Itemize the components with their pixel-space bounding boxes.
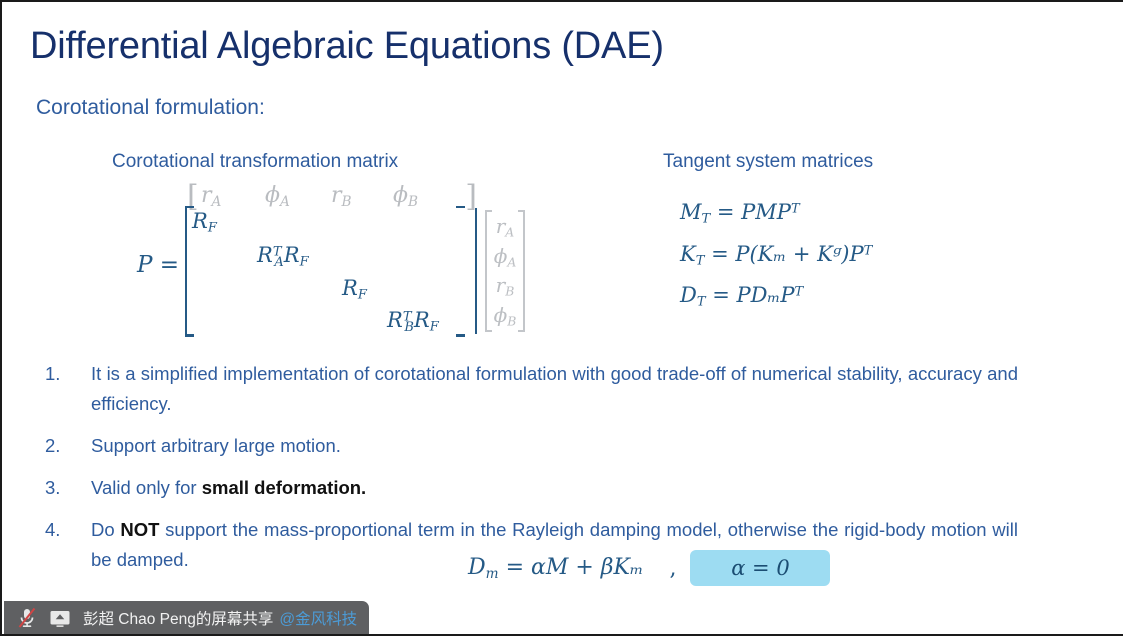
list-item-number: 2. xyxy=(45,431,75,461)
share-owner-label: 彭超 Chao Peng的屏幕共享 xyxy=(83,607,273,629)
share-organization-handle: @金风科技 xyxy=(279,607,357,629)
block-diagonal-matrix: RF RTARF RF RTBRF xyxy=(185,208,477,334)
list-item: 1. It is a simplified implementation of … xyxy=(43,359,1018,419)
corotational-transformation-matrix-figure: [ rA ϕA rB ϕB ] P = RF RTARF RF RTBRF xyxy=(137,182,517,337)
list-item-number: 1. xyxy=(45,359,75,389)
heading-tangent-system-matrices: Tangent system matrices xyxy=(663,151,873,173)
list-item-emphasis: small deformation. xyxy=(202,477,366,498)
slide-subtitle: Corotational formulation: xyxy=(36,96,265,120)
status-badge-alpha-zero: α = 0 xyxy=(690,550,830,586)
list-item-emphasis: NOT xyxy=(120,519,159,540)
dof-column-vector: rA ϕA rB ϕB xyxy=(485,212,525,330)
equation-rayleigh-damping: Dm = αM + βKₘ xyxy=(468,555,643,582)
vector-entry-ra: rA xyxy=(487,212,523,242)
screen-share-status-bar[interactable]: 彭超 Chao Peng的屏幕共享 @金风科技 xyxy=(4,601,369,634)
list-item-number: 3. xyxy=(45,473,75,503)
list-item: 3. Valid only for small deformation. xyxy=(43,473,1018,503)
heading-corotational-transformation-matrix: Corotational transformation matrix xyxy=(112,151,398,173)
matrix-entry-2: RTARF xyxy=(257,243,309,270)
rayleigh-damping-equation-row: Dm = αM + βKₘ , α = 0 xyxy=(468,550,830,586)
matrix-entry-4: RTBRF xyxy=(387,308,439,335)
equation-mass-matrix: MT = PMPT xyxy=(680,200,872,227)
microphone-muted-icon[interactable] xyxy=(14,606,40,630)
equation-stiffness-matrix: KT = P(Kₘ + Kᵍ)PT xyxy=(680,242,872,269)
screen-share-icon[interactable] xyxy=(47,606,73,630)
tangent-system-equations: MT = PMPT KT = P(Kₘ + Kᵍ)PT DT = PDₘPT xyxy=(680,200,872,325)
page-title: Differential Algebraic Equations (DAE) xyxy=(30,26,664,67)
equation-damping-matrix: DT = PDₘPT xyxy=(680,283,872,310)
vector-entry-rb: rB xyxy=(487,271,523,301)
vector-entry-phib: ϕB xyxy=(487,301,523,331)
column-label-rb: rB xyxy=(331,183,352,210)
column-label-ra: rA xyxy=(201,183,221,210)
equation-separator: , xyxy=(669,556,676,581)
column-label-phia: ϕA xyxy=(265,183,290,210)
matrix-entry-1: RF xyxy=(192,209,217,236)
column-label-phib: ϕB xyxy=(393,183,418,210)
list-item-text: Valid only for small deformation. xyxy=(91,477,366,498)
list-item-text: It is a simplified implementation of cor… xyxy=(91,363,1018,414)
list-item: 2. Support arbitrary large motion. xyxy=(43,431,1018,461)
list-item-number: 4. xyxy=(45,515,75,545)
vector-entry-phia: ϕA xyxy=(487,242,523,272)
presentation-slide: Differential Algebraic Equations (DAE) C… xyxy=(0,0,1123,636)
matrix-lhs-label: P = xyxy=(137,252,179,278)
list-item-text: Support arbitrary large motion. xyxy=(91,435,341,456)
matrix-entry-3: RF xyxy=(342,276,367,303)
